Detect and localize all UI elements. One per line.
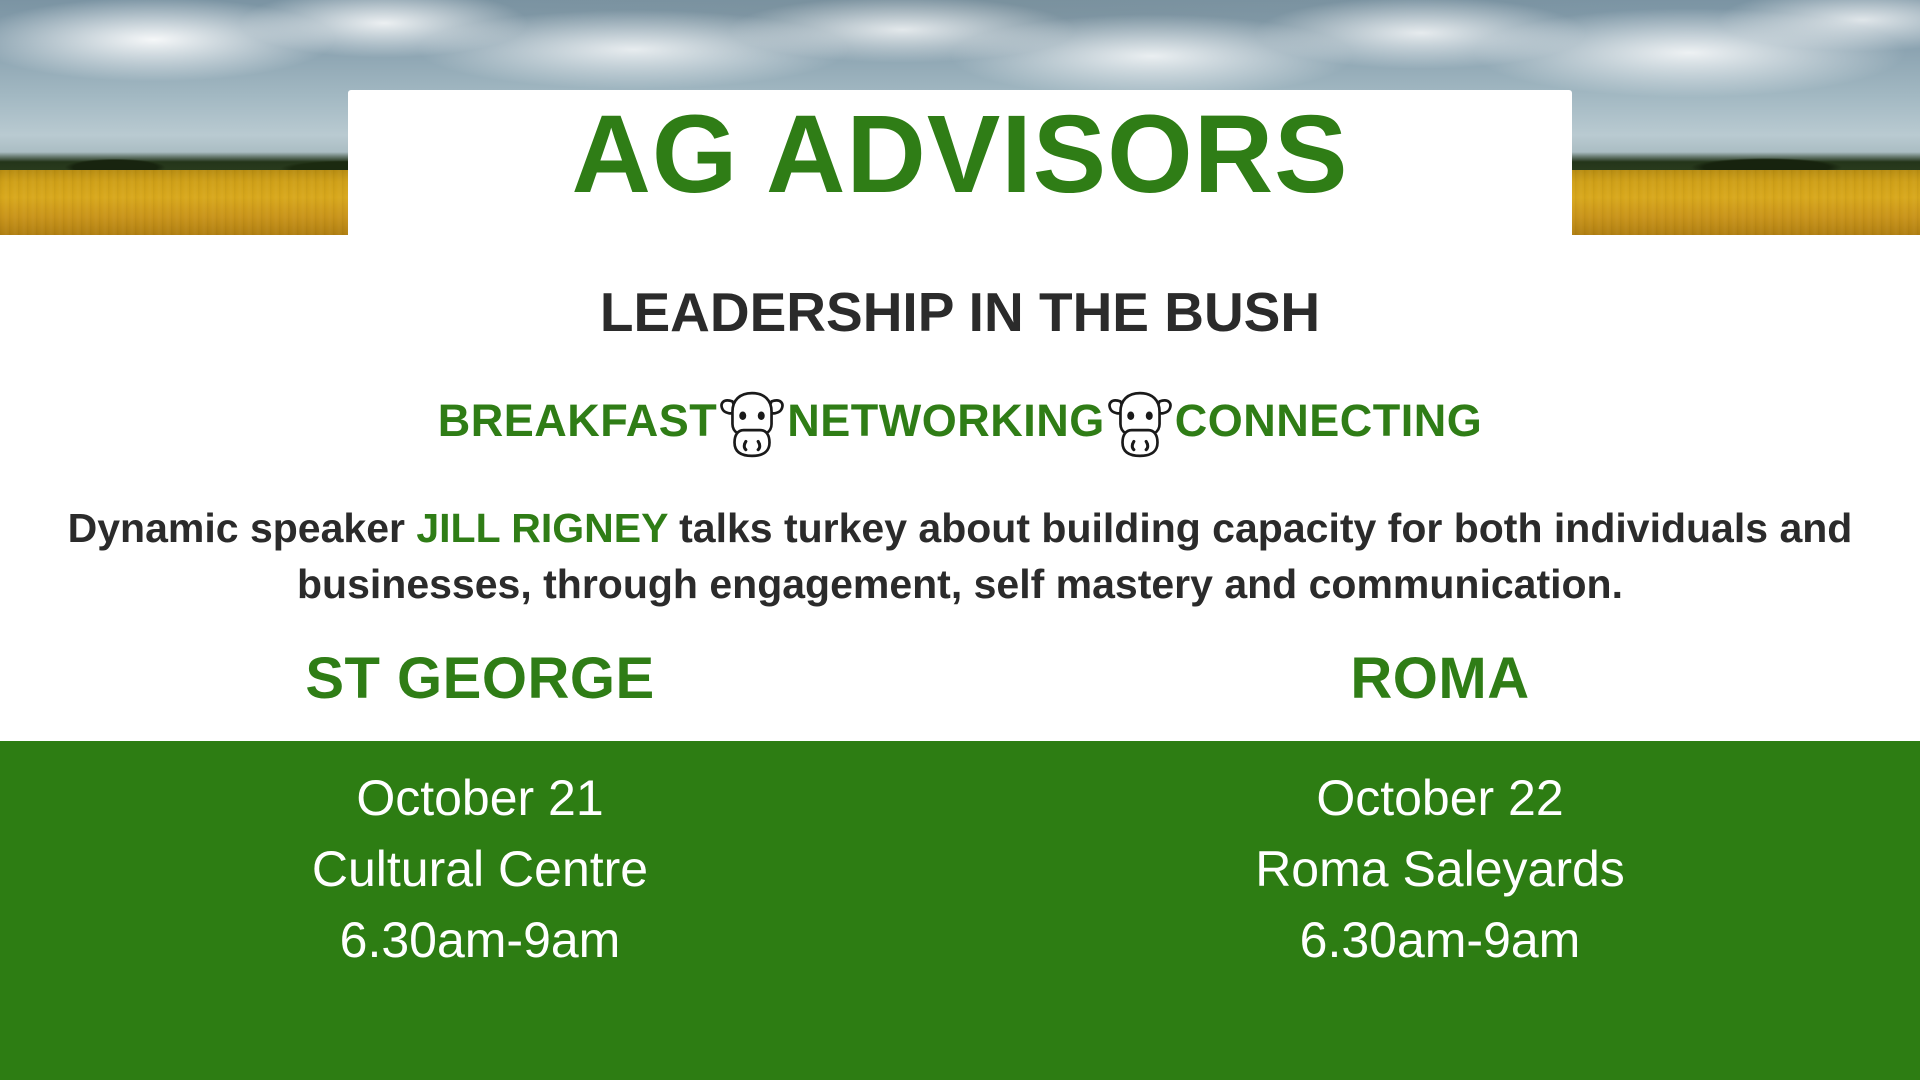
event-details-st-george: October 21 Cultural Centre 6.30am-9am [0,741,960,976]
pillar-networking: NETWORKING [787,395,1104,447]
speaker-name: JILL RIGNEY [416,505,667,551]
location-heading-st-george: ST GEORGE [0,645,960,713]
location-headers-row: ST GEORGE ROMA [0,645,1920,713]
event-date: October 22 [960,763,1920,834]
event-time: 6.30am-9am [0,905,960,976]
event-details-columns: October 21 Cultural Centre 6.30am-9am Oc… [0,741,1920,976]
pillars-row: BREAKFAST NETWORKING [0,385,1920,457]
pillar-breakfast: BREAKFAST [438,395,718,447]
tagline: LEADERSHIP IN THE BUSH [0,281,1920,343]
page-title: AG ADVISORS [348,96,1572,214]
event-venue: Cultural Centre [0,834,960,905]
event-details-roma: October 22 Roma Saleyards 6.30am-9am [960,741,1920,976]
blurb-lead: Dynamic speaker [68,505,417,551]
cow-face-icon [719,389,785,461]
pillar-connecting: CONNECTING [1175,395,1483,447]
event-venue: Roma Saleyards [960,834,1920,905]
event-date: October 21 [0,763,960,834]
cow-face-icon [1107,389,1173,461]
description-paragraph: Dynamic speaker JILL RIGNEY talks turkey… [20,500,1900,612]
event-flyer: AG ADVISORS LEADERSHIP IN THE BUSH BREAK… [0,0,1920,1080]
event-time: 6.30am-9am [960,905,1920,976]
location-heading-roma: ROMA [960,645,1920,713]
event-details-panel: October 21 Cultural Centre 6.30am-9am Oc… [0,741,1920,1080]
